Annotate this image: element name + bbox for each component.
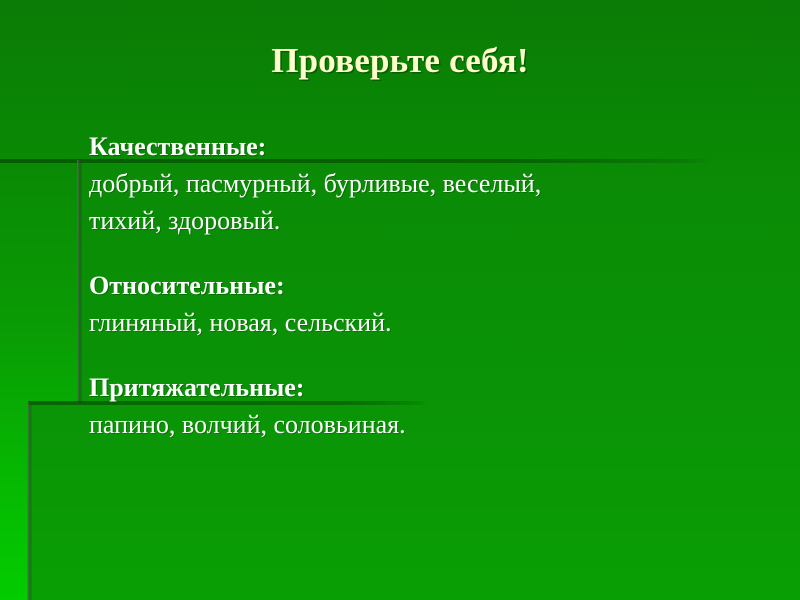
section-relative: Относительные: глиняный, новая, сельский… xyxy=(89,267,789,341)
slide-canvas: Проверьте себя! Качественные: добрый, па… xyxy=(0,0,800,600)
panel-left-shadow-line xyxy=(77,160,82,403)
slide-title: Проверьте себя! xyxy=(0,40,800,82)
section-heading: Относительные: xyxy=(89,267,789,304)
slide-body: Качественные: добрый, пасмурный, бурливы… xyxy=(89,128,789,443)
section-body: папино, волчий, соловьиная. xyxy=(89,406,789,443)
section-body-line: тихий, здоровый. xyxy=(89,202,789,239)
section-body-line: глиняный, новая, сельский. xyxy=(89,304,789,341)
section-body-line: добрый, пасмурный, бурливые, веселый, xyxy=(89,165,789,202)
section-possessive: Притяжательные: папино, волчий, соловьин… xyxy=(89,369,789,443)
section-body: добрый, пасмурный, бурливые, веселый, ти… xyxy=(89,165,789,239)
section-qualitative: Качественные: добрый, пасмурный, бурливы… xyxy=(89,128,789,239)
section-heading: Качественные: xyxy=(89,128,789,165)
lower-panel-left-shadow-line xyxy=(27,402,32,600)
section-body-line: папино, волчий, соловьиная. xyxy=(89,406,789,443)
section-heading: Притяжательные: xyxy=(89,369,789,406)
section-body: глиняный, новая, сельский. xyxy=(89,304,789,341)
